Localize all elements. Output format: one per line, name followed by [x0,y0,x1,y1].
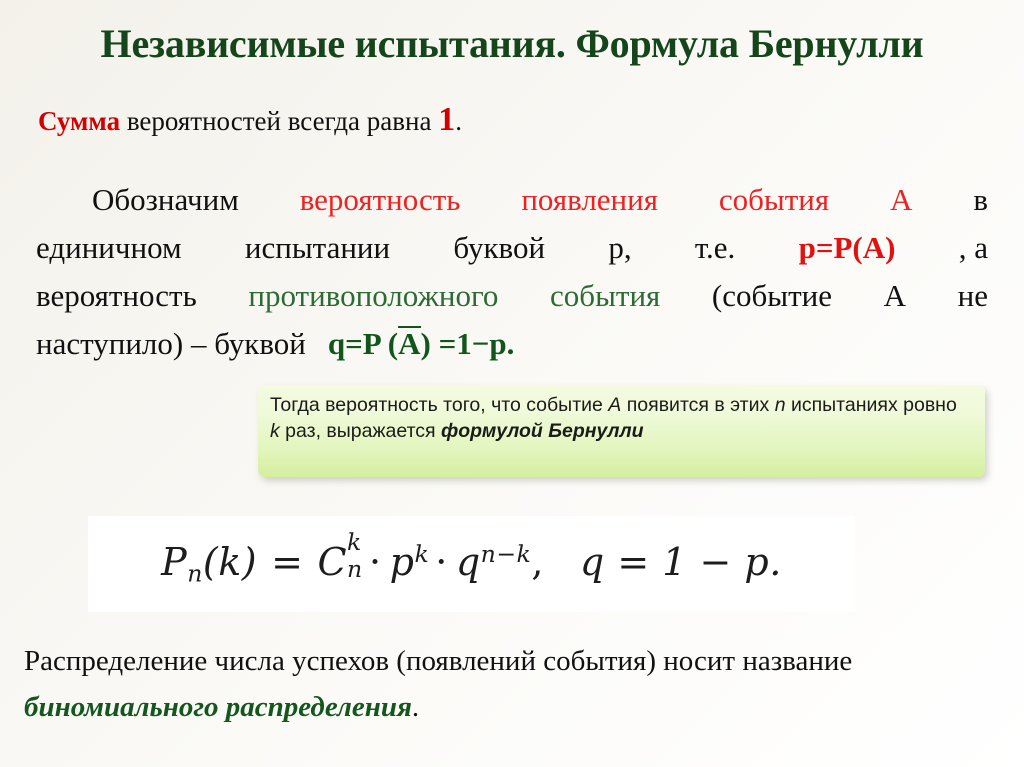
closing-term-binomial: биномиального распределения [24,691,412,723]
callout-box: Тогда вероятность того, что событие A по… [258,385,985,477]
def2-formula-p-eq-pa: p=P(A) [799,224,896,272]
formula-c-sup-k: k [347,528,362,556]
def4-text-nastupilo: наступило) – буквой [36,320,306,368]
def2-tail: , а [959,224,988,272]
def1-word-sobytiya: события [719,176,829,224]
def1-word-v: в [973,176,988,224]
callout-var-k: k [270,420,280,442]
formula-p-sup-k: k [414,540,429,568]
bernoulli-formula: Pn(k)=Ckn·pk·qn−k,q = 1 − p. [161,540,782,588]
def1-word-poyavleniya: появления [521,176,658,224]
def2-word-te: т.е. [695,224,735,272]
def3-word-a: А [884,272,906,320]
definition-line-2: единичном испытании буквой р, т.е. p=P(A… [36,224,988,272]
def1-word-veroyatnost: вероятность [300,176,461,224]
def2-word-edinichnom: единичном [36,224,182,272]
def3-word-veroyatnost: вероятность [36,272,197,320]
page-title: Независимые испытания. Формула Бернулли [0,20,1024,68]
sum-period: . [455,106,462,136]
formula-c-base: C [317,540,347,584]
def1-word-a: А [890,176,912,224]
formula-p-sub-n: n [187,560,203,588]
formula-binomial-coefficient: Ckn [317,540,347,584]
def3-word-protivopolozhnogo: противоположного [248,272,498,320]
formula-q-base: q [456,540,481,584]
sum-middle-text: вероятностей всегда равна [120,106,438,136]
definition-line-4: наступило) – буквой q=P (A) =1−p. [36,320,988,368]
callout-text: Тогда вероятность того, что событие A по… [270,392,971,444]
formula-p-base: p [390,540,415,584]
callout-seg2: появится в этих [621,394,774,416]
slide-root: Независимые испытания. Формула Бернулли … [0,0,1024,767]
sum-keyword: Сумма [38,106,120,136]
def3-word-sobytie-open: (событие [712,272,832,320]
def4-q-head: q=P ( [328,326,398,361]
formula-q-sup-nk: n−k [481,540,532,568]
callout-seg4: раз, выражается [280,420,441,442]
closing-part-2: . [412,691,419,723]
definition-line-3: вероятность противоположного события (со… [36,272,988,320]
formula-tail-q-eq: q = 1 − p. [580,540,782,584]
callout-var-a: A [608,394,621,416]
closing-paragraph: Распределение числа успехов (появлений с… [24,638,1004,730]
def2-word-p: р, [608,224,631,272]
formula-p: P [161,540,187,584]
def2-word-bukvoy: буквой [453,224,545,272]
sum-value: 1 [438,101,455,138]
callout-var-n: n [775,394,786,416]
definition-line-1: Обозначим вероятность появления события … [36,176,988,224]
definition-paragraph: Обозначим вероятность появления события … [36,176,988,368]
def2-word-ispytanii: испытании [245,224,390,272]
title-block: Независимые испытания. Формула Бернулли [0,20,1024,68]
callout-seg3: испытаниях ровно [786,394,957,416]
formula-c-sub-n: n [347,555,363,583]
def4-overline-a: A [398,326,420,359]
def4-formula-q: q=P (A) =1−p. [328,320,515,368]
sum-statement: Сумма вероятностей всегда равна 1. [38,103,462,138]
formula-comma: , [531,540,544,584]
closing-part-1: Распределение числа успехов (появлений с… [24,645,852,677]
def3-word-ne: не [958,272,988,320]
formula-panel: Pn(k)=Ckn·pk·qn−k,q = 1 − p. [88,516,855,612]
def1-word-oboznachim: Обозначим [92,176,239,224]
formula-dot-2: · [435,540,448,584]
def4-q-tail: ) =1−p. [421,326,515,361]
formula-arg: (k) [203,540,257,584]
callout-emphasis: формулой Бернулли [441,420,644,442]
formula-dot-1: · [369,540,382,584]
formula-equals: = [271,540,303,584]
def3-word-sobytiya: события [550,272,660,320]
callout-seg1: Тогда вероятность того, что событие [270,394,608,416]
